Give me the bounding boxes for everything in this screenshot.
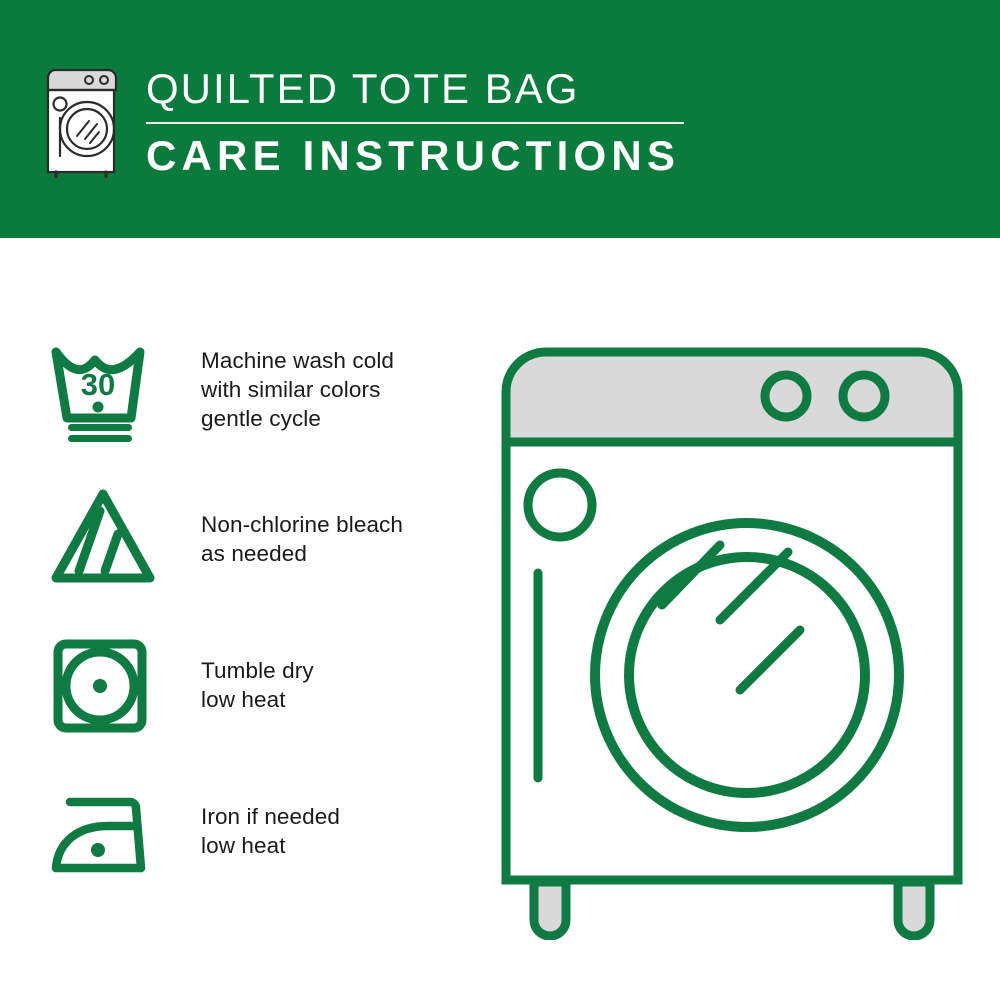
foot-right [898, 882, 930, 936]
header-title-block: QUILTED TOTE BAG CARE INSTRUCTIONS [146, 63, 846, 182]
iron-low-heat-icon [48, 790, 158, 880]
machine-wash-cold-icon: 30 [48, 340, 158, 445]
care-text-iron: Iron if needed low heat [201, 790, 340, 860]
non-chlorine-bleach-icon [48, 486, 158, 586]
care-text-tumble-dry: Tumble dry low heat [201, 636, 314, 714]
wash-temperature-label: 30 [81, 367, 115, 402]
page-subtitle: CARE INSTRUCTIONS [146, 130, 846, 182]
header-banner: QUILTED TOTE BAG CARE INSTRUCTIONS [0, 0, 1000, 238]
care-text-bleach: Non-chlorine bleach as needed [201, 486, 403, 568]
page-title: QUILTED TOTE BAG [146, 63, 846, 115]
tumble-dry-low-icon [48, 636, 158, 736]
foot-left [534, 882, 566, 936]
care-text-machine-wash: Machine wash cold with similar colors ge… [201, 340, 394, 433]
care-instruction-list: 30 Machine wash cold with similar colors… [0, 238, 480, 1000]
care-row-iron: Iron if needed low heat [48, 790, 468, 880]
title-divider [146, 122, 684, 124]
washing-machine-icon [44, 66, 130, 178]
care-row-tumble-dry: Tumble dry low heat [48, 636, 468, 736]
care-row-machine-wash: 30 Machine wash cold with similar colors… [48, 340, 468, 445]
care-row-bleach: Non-chlorine bleach as needed [48, 486, 468, 586]
front-load-washing-machine-illustration [492, 330, 972, 940]
care-instructions-page: QUILTED TOTE BAG CARE INSTRUCTIONS 30 Ma… [0, 0, 1000, 1000]
